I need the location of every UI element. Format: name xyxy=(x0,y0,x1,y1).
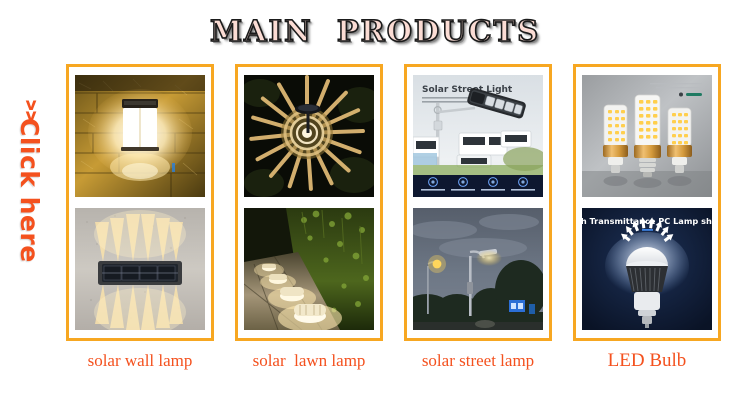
pc-lamp-shade-banner[interactable]: High Transmittance PC Lamp shade xyxy=(582,208,712,330)
product-label: solar street lamp xyxy=(404,349,552,373)
product-card[interactable] xyxy=(235,64,383,341)
led-corn-bulbs-trio[interactable] xyxy=(582,75,712,197)
page-title: MAIN PRODUCTS xyxy=(210,14,540,48)
product-label: solar lawn lamp xyxy=(235,349,383,373)
product-cell-solar-street-lamp[interactable]: Solar Street Light xyxy=(404,64,552,394)
product-cell-solar-wall-lamp[interactable]: solar wall lamp xyxy=(66,64,214,394)
garden-path-solar-lights[interactable] xyxy=(244,208,374,330)
banner-title-text: High Transmittance PC Lamp shade xyxy=(582,216,712,226)
street-lamp-at-dusk-photo[interactable] xyxy=(413,208,543,330)
banner-title-text: Solar Street Light xyxy=(422,85,513,95)
product-label: LED Bulb xyxy=(573,349,721,373)
click-here-label[interactable]: Click here xyxy=(15,118,44,318)
solar-wall-light-up-down-beams[interactable] xyxy=(75,208,205,330)
product-cell-solar-lawn-lamp[interactable]: solar lawn lamp xyxy=(235,64,383,394)
product-card[interactable] xyxy=(66,64,214,341)
solar-street-light-banner[interactable]: Solar Street Light xyxy=(413,75,543,197)
product-card[interactable]: Solar Street Light xyxy=(404,64,552,341)
solar-lawn-lamp-sunburst[interactable] xyxy=(244,75,374,197)
product-label: solar wall lamp xyxy=(66,349,214,373)
click-here-rail[interactable]: v v Click here xyxy=(0,60,62,350)
solar-wall-lamp-on-stone-wall[interactable] xyxy=(75,75,205,197)
product-card[interactable]: High Transmittance PC Lamp shade xyxy=(573,64,721,341)
product-grid: solar wall lamp xyxy=(66,64,738,394)
product-cell-led-bulb[interactable]: High Transmittance PC Lamp shade xyxy=(573,64,721,394)
page-header: MAIN PRODUCTS xyxy=(0,14,750,58)
